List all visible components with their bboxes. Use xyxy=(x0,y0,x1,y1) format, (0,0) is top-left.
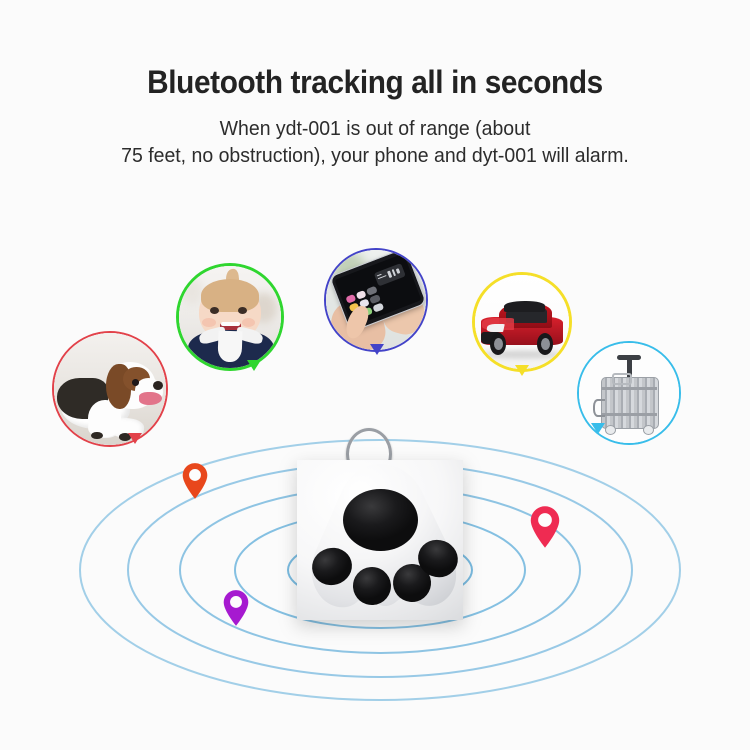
pin-crimson-icon[interactable] xyxy=(529,505,561,549)
car-photo xyxy=(475,275,569,369)
paw-pad-center xyxy=(343,489,418,551)
header-text-block: Bluetooth tracking all in seconds When y… xyxy=(0,62,750,169)
use-case-bubble-car[interactable] xyxy=(472,272,572,372)
bubble-tail-phone xyxy=(370,344,384,355)
paw-tracker-device[interactable] xyxy=(297,460,463,620)
subtitle-line-1: When ydt-001 is out of range (about xyxy=(19,115,732,142)
bubble-tail-car xyxy=(515,365,529,376)
subtitle-line-2: 75 feet, no obstruction), your phone and… xyxy=(19,142,732,169)
use-case-bubble-baby[interactable] xyxy=(176,263,284,371)
page-title: Bluetooth tracking all in seconds xyxy=(26,62,724,102)
phone-photo xyxy=(326,250,426,350)
page-subtitle: When ydt-001 is out of range (about 75 f… xyxy=(19,115,732,169)
pin-orange-icon[interactable] xyxy=(181,462,209,500)
baby-photo xyxy=(179,266,281,368)
product-feature-image: Bluetooth tracking all in seconds When y… xyxy=(0,0,750,750)
pin-purple-icon[interactable] xyxy=(222,589,250,627)
use-case-bubble-phone[interactable] xyxy=(324,248,428,352)
bubble-tail-baby xyxy=(247,360,261,371)
